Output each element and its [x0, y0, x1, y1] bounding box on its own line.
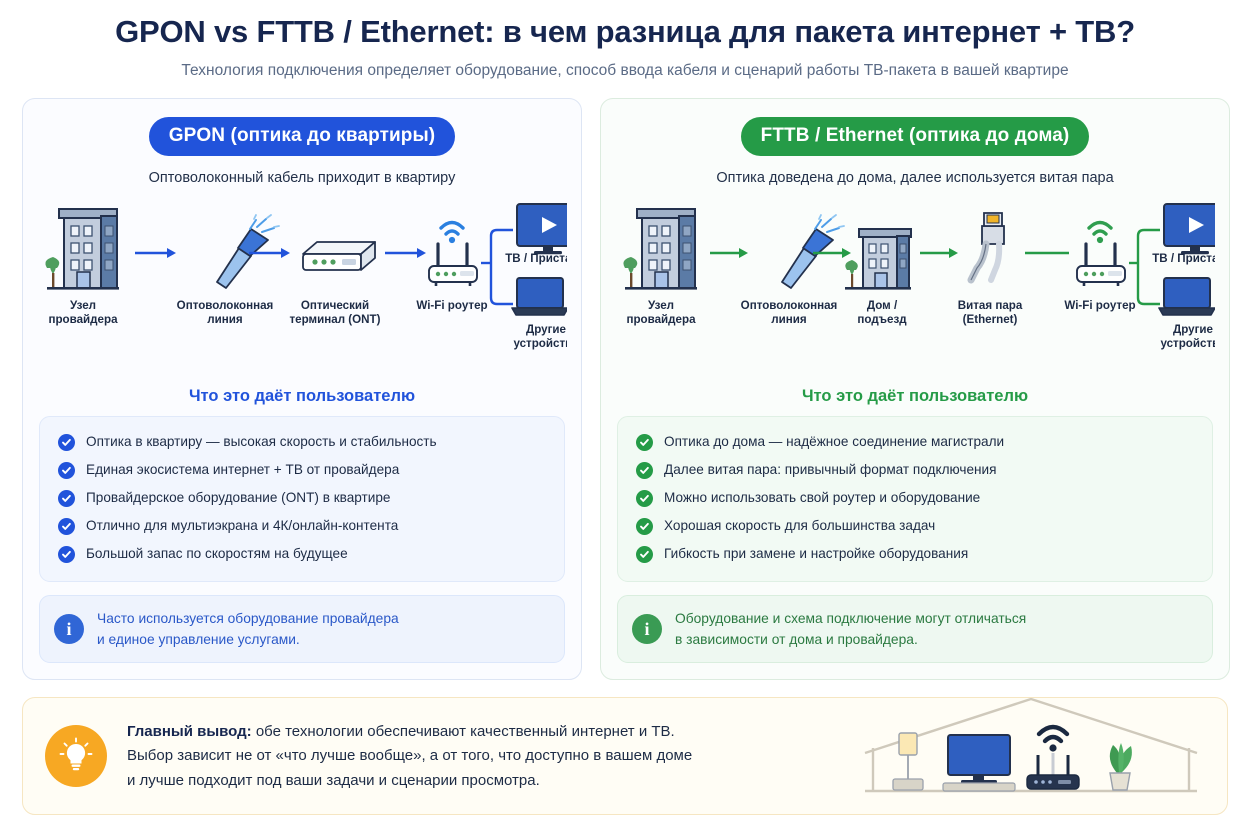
- ont-terminal-icon: [303, 242, 375, 270]
- node-label: Узел: [648, 299, 674, 312]
- list-item-label: Можно использовать свой роутер и оборудо…: [664, 490, 980, 507]
- check-icon: [636, 462, 653, 479]
- tv-screen-icon: [1164, 204, 1215, 254]
- panel-gpon: GPON (оптика до квартиры) Оптоволоконный…: [22, 98, 582, 681]
- node-label: Wi-Fi роутер: [1064, 299, 1135, 312]
- check-icon: [58, 434, 75, 451]
- node-label: терминал (ONT): [290, 313, 381, 326]
- node-label: линия: [207, 313, 242, 326]
- comparison-panels: GPON (оптика до квартиры) Оптоволоконный…: [0, 80, 1250, 681]
- branch-connector: [481, 230, 513, 304]
- conclusion-line1: обе технологии обеспечивают качественный…: [252, 723, 675, 740]
- office-building-icon: [623, 209, 697, 290]
- list-item: Можно использовать свой роутер и оборудо…: [632, 485, 1198, 513]
- apartment-building-icon: [845, 229, 911, 290]
- list-item-label: Гибкость при замене и настройке оборудов…: [664, 546, 968, 563]
- check-icon: [58, 462, 75, 479]
- node-label: провайдера: [48, 313, 118, 326]
- fiber-optic-cable-icon: [217, 215, 279, 288]
- lightbulb-icon: [45, 725, 107, 787]
- gpon-benefits-title: Что это даёт пользователю: [39, 387, 565, 406]
- endpoint-label: Другие: [526, 323, 567, 336]
- list-item-label: Далее витая пара: привычный формат подкл…: [664, 462, 997, 479]
- wifi-router-icon: [1077, 222, 1125, 286]
- check-icon: [636, 490, 653, 507]
- endpoint-label: Другие: [1173, 323, 1214, 336]
- fttb-benefits-list: Оптика до дома — надёжное соединение маг…: [617, 416, 1213, 582]
- node-label: Wi-Fi роутер: [416, 299, 487, 312]
- node-label: подъезд: [857, 313, 907, 326]
- list-item: Единая экосистема интернет + ТВ от прова…: [54, 457, 550, 485]
- node-label: Оптоволоконная: [741, 299, 838, 312]
- list-item-label: Оптика до дома — надёжное соединение маг…: [664, 434, 1004, 451]
- fttb-benefits-title: Что это даёт пользователю: [617, 387, 1213, 406]
- list-item: Оптика до дома — надёжное соединение маг…: [632, 429, 1198, 457]
- list-item-label: Большой запас по скоростям на будущее: [86, 546, 348, 563]
- fttb-note: i Оборудование и схема подключение могут…: [617, 595, 1213, 664]
- conclusion-line3: и лучше подходит под ваши задачи и сцена…: [127, 772, 540, 789]
- node-label: (Ethernet): [963, 313, 1018, 326]
- connector-arrow: [135, 248, 176, 258]
- endpoint-label: устройства: [1160, 337, 1215, 350]
- plant-icon: [1110, 743, 1132, 790]
- fttb-subtitle: Оптика доведена до дома, далее используе…: [617, 170, 1213, 186]
- list-item: Гибкость при замене и настройке оборудов…: [632, 541, 1198, 569]
- check-icon: [58, 546, 75, 563]
- connector-arrow: [385, 248, 426, 258]
- endpoint-label: ТВ / Приставка: [1152, 252, 1215, 265]
- connector-arrow: [710, 248, 748, 258]
- info-icon: i: [632, 614, 662, 644]
- node-label: провайдера: [626, 313, 696, 326]
- tv-icon: [943, 735, 1015, 791]
- laptop-phone-icon: [512, 278, 567, 315]
- endpoint-label: ТВ / Приставка: [505, 252, 567, 265]
- list-item-label: Хорошая скорость для большинства задач: [664, 518, 935, 535]
- office-building-icon: [45, 209, 119, 290]
- fttb-badge: FTTB / Ethernet (оптика до дома): [741, 117, 1090, 156]
- rj45-connector-icon: [971, 213, 1004, 280]
- page-header: GPON vs FTTB / Ethernet: в чем разница д…: [0, 0, 1250, 80]
- node-label: Узел: [70, 299, 96, 312]
- gpon-note: i Часто используется оборудование провай…: [39, 595, 565, 664]
- info-icon: i: [54, 614, 84, 644]
- list-item: Отлично для мультиэкрана и 4К/онлайн-кон…: [54, 513, 550, 541]
- house-interior-icon: [857, 697, 1205, 810]
- gpon-note-line2: и единое управление услугами.: [97, 632, 300, 647]
- check-icon: [636, 518, 653, 535]
- laptop-phone-icon: [1159, 278, 1215, 315]
- tv-screen-icon: [517, 204, 567, 254]
- endpoint-label: устройства: [513, 337, 567, 350]
- wifi-router-icon: [1027, 727, 1079, 789]
- gpon-benefits-list: Оптика в квартиру — высокая скорость и с…: [39, 416, 565, 582]
- branch-connector: [1129, 230, 1160, 304]
- gpon-note-line1: Часто используется оборудование провайде…: [97, 611, 399, 626]
- conclusion-line2: Выбор зависит не от «что лучше вообще», …: [127, 747, 692, 764]
- node-label: Оптоволоконная: [177, 299, 274, 312]
- fttb-note-text: Оборудование и схема подключение могут о…: [675, 608, 1026, 651]
- list-item-label: Оптика в квартиру — высокая скорость и с…: [86, 434, 437, 451]
- list-item: Оптика в квартиру — высокая скорость и с…: [54, 429, 550, 457]
- list-item: Провайдерское оборудование (ONT) в кварт…: [54, 485, 550, 513]
- check-icon: [58, 490, 75, 507]
- infographic-page: GPON vs FTTB / Ethernet: в чем разница д…: [0, 0, 1250, 833]
- connector-arrow: [920, 248, 958, 258]
- list-item-label: Единая экосистема интернет + ТВ от прова…: [86, 462, 399, 479]
- check-icon: [636, 546, 653, 563]
- gpon-note-text: Часто используется оборудование провайде…: [97, 608, 399, 651]
- conclusion-lead: Главный вывод:: [127, 723, 252, 740]
- fttb-badge-wrap: FTTB / Ethernet (оптика до дома): [617, 117, 1213, 156]
- fttb-diagram: Узел провайдера Оптоволоконная линия Дом…: [617, 196, 1213, 381]
- page-subtitle: Технология подключения определяет оборуд…: [0, 62, 1250, 80]
- conclusion-banner: Главный вывод: обе технологии обеспечива…: [22, 697, 1228, 815]
- node-label: Витая пара: [958, 299, 1023, 312]
- node-label: Дом /: [867, 299, 898, 312]
- list-item-label: Провайдерское оборудование (ONT) в кварт…: [86, 490, 390, 507]
- fttb-note-line1: Оборудование и схема подключение могут о…: [675, 611, 1026, 626]
- node-label: Оптический: [301, 299, 369, 312]
- fiber-optic-cable-icon: [782, 215, 844, 288]
- list-item: Хорошая скорость для большинства задач: [632, 513, 1198, 541]
- gpon-subtitle: Оптоволоконный кабель приходит в квартир…: [39, 170, 565, 186]
- check-icon: [58, 518, 75, 535]
- node-label: линия: [771, 313, 806, 326]
- list-item: Большой запас по скоростям на будущее: [54, 541, 550, 569]
- fttb-note-line2: в зависимости от дома и провайдера.: [675, 632, 918, 647]
- gpon-diagram: Узел провайдера Оптоволоконная линия Опт…: [39, 196, 565, 381]
- check-icon: [636, 434, 653, 451]
- list-item: Далее витая пара: привычный формат подкл…: [632, 457, 1198, 485]
- panel-fttb: FTTB / Ethernet (оптика до дома) Оптика …: [600, 98, 1230, 681]
- conclusion-text: Главный вывод: обе технологии обеспечива…: [127, 720, 692, 793]
- wifi-router-icon: [429, 222, 477, 286]
- gpon-badge-wrap: GPON (оптика до квартиры): [39, 117, 565, 156]
- list-item-label: Отлично для мультиэкрана и 4К/онлайн-кон…: [86, 518, 398, 535]
- gpon-badge: GPON (оптика до квартиры): [149, 117, 455, 156]
- page-title: GPON vs FTTB / Ethernet: в чем разница д…: [0, 14, 1250, 50]
